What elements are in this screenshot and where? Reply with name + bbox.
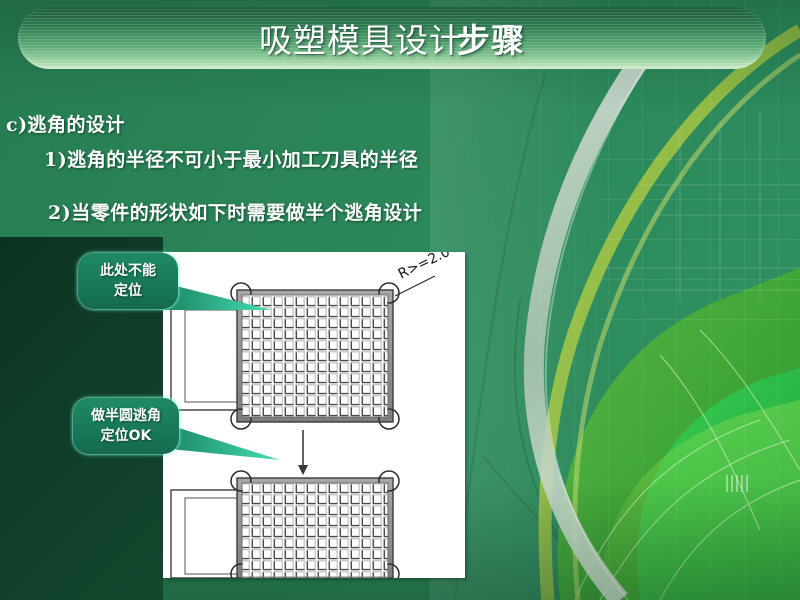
bullet-item-2: 2)当零件的形状如下时需要做半个逃角设计	[48, 198, 526, 225]
diagram-panel: R>=2.0	[163, 252, 465, 578]
body-text-block: c)逃角的设计 1)逃角的半径不可小于最小加工刀具的半径 2)当零件的形状如下时…	[6, 110, 526, 225]
bullet-heading: c)逃角的设计	[6, 110, 526, 137]
bullet-item-1: 1)逃角的半径不可小于最小加工刀具的半径	[44, 145, 526, 172]
radius-label: R>=2.0	[396, 252, 453, 283]
diagram-drawing: R>=2.0	[163, 252, 465, 578]
callout-1-line-1: 此处不能	[100, 261, 156, 281]
callout-half-round-ok[interactable]: 做半圆逃角 定位OK	[73, 398, 179, 454]
page-title-main: 吸塑模具设计	[259, 14, 463, 62]
page-title: 吸塑模具设计步骤	[18, 7, 766, 69]
callout-cannot-locate[interactable]: 此处不能 定位	[78, 253, 178, 309]
callout-2-line-2: 定位OK	[101, 426, 152, 446]
slide-canvas: 吸塑模具设计步骤 c)逃角的设计 1)逃角的半径不可小于最小加工刀具的半径 2)…	[0, 0, 800, 600]
callout-2-line-1: 做半圆逃角	[91, 406, 161, 426]
callout-1-line-2: 定位	[114, 281, 142, 301]
top-part-drawing: R>=2.0	[171, 252, 453, 429]
bottom-part-drawing	[171, 471, 399, 578]
page-title-emphasis: 步骤	[457, 14, 525, 62]
